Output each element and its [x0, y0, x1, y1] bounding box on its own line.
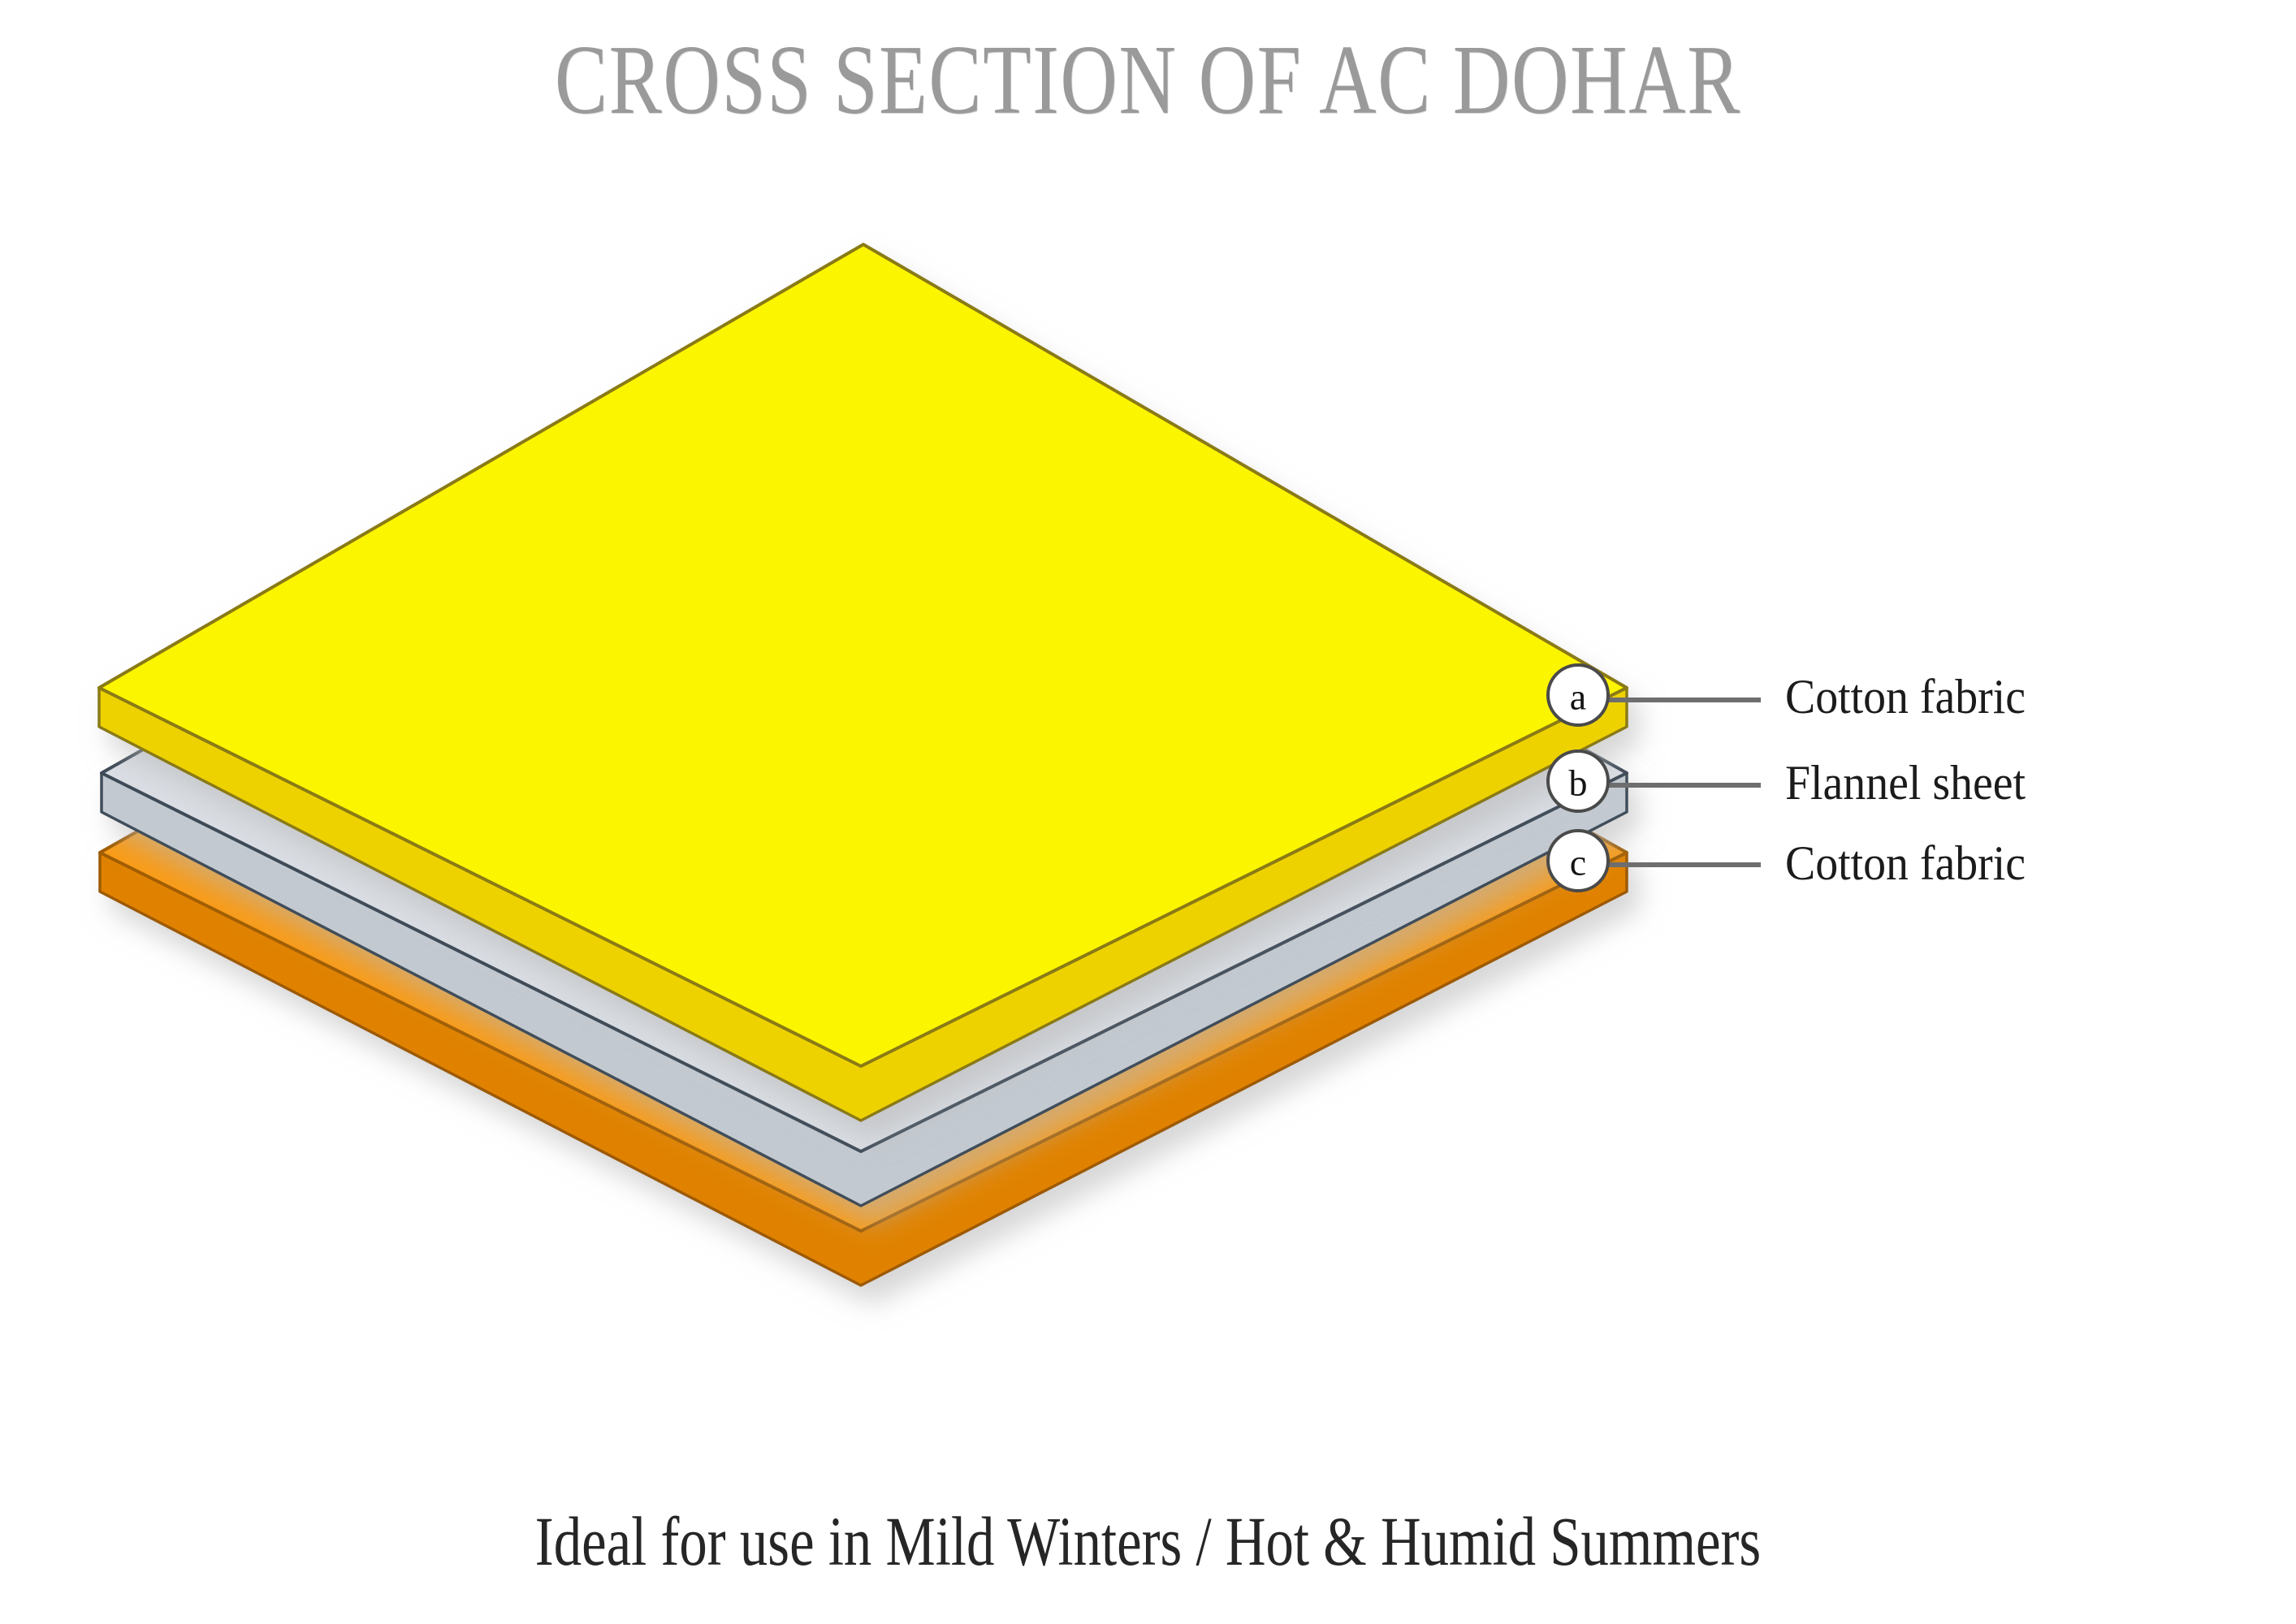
marker-c[interactable]: c [1548, 831, 1608, 891]
callout-label-a: Cotton fabric [1785, 672, 2026, 721]
page-caption: Ideal for use in Mild Winters / Hot & Hu… [230, 1506, 2067, 1576]
callout-label-c: Cotton fabric [1785, 839, 2026, 888]
diagram-canvas: CROSS SECTION OF AC DOHAR [0, 0, 2296, 1624]
marker-a[interactable]: a [1548, 665, 1608, 725]
layer-stack-illustration: a b c [0, 0, 2296, 1624]
marker-b-letter: b [1569, 762, 1588, 804]
marker-c-letter: c [1570, 842, 1586, 883]
marker-a-letter: a [1570, 676, 1586, 718]
callout-label-b: Flannel sheet [1785, 758, 2026, 807]
marker-b[interactable]: b [1548, 751, 1608, 811]
